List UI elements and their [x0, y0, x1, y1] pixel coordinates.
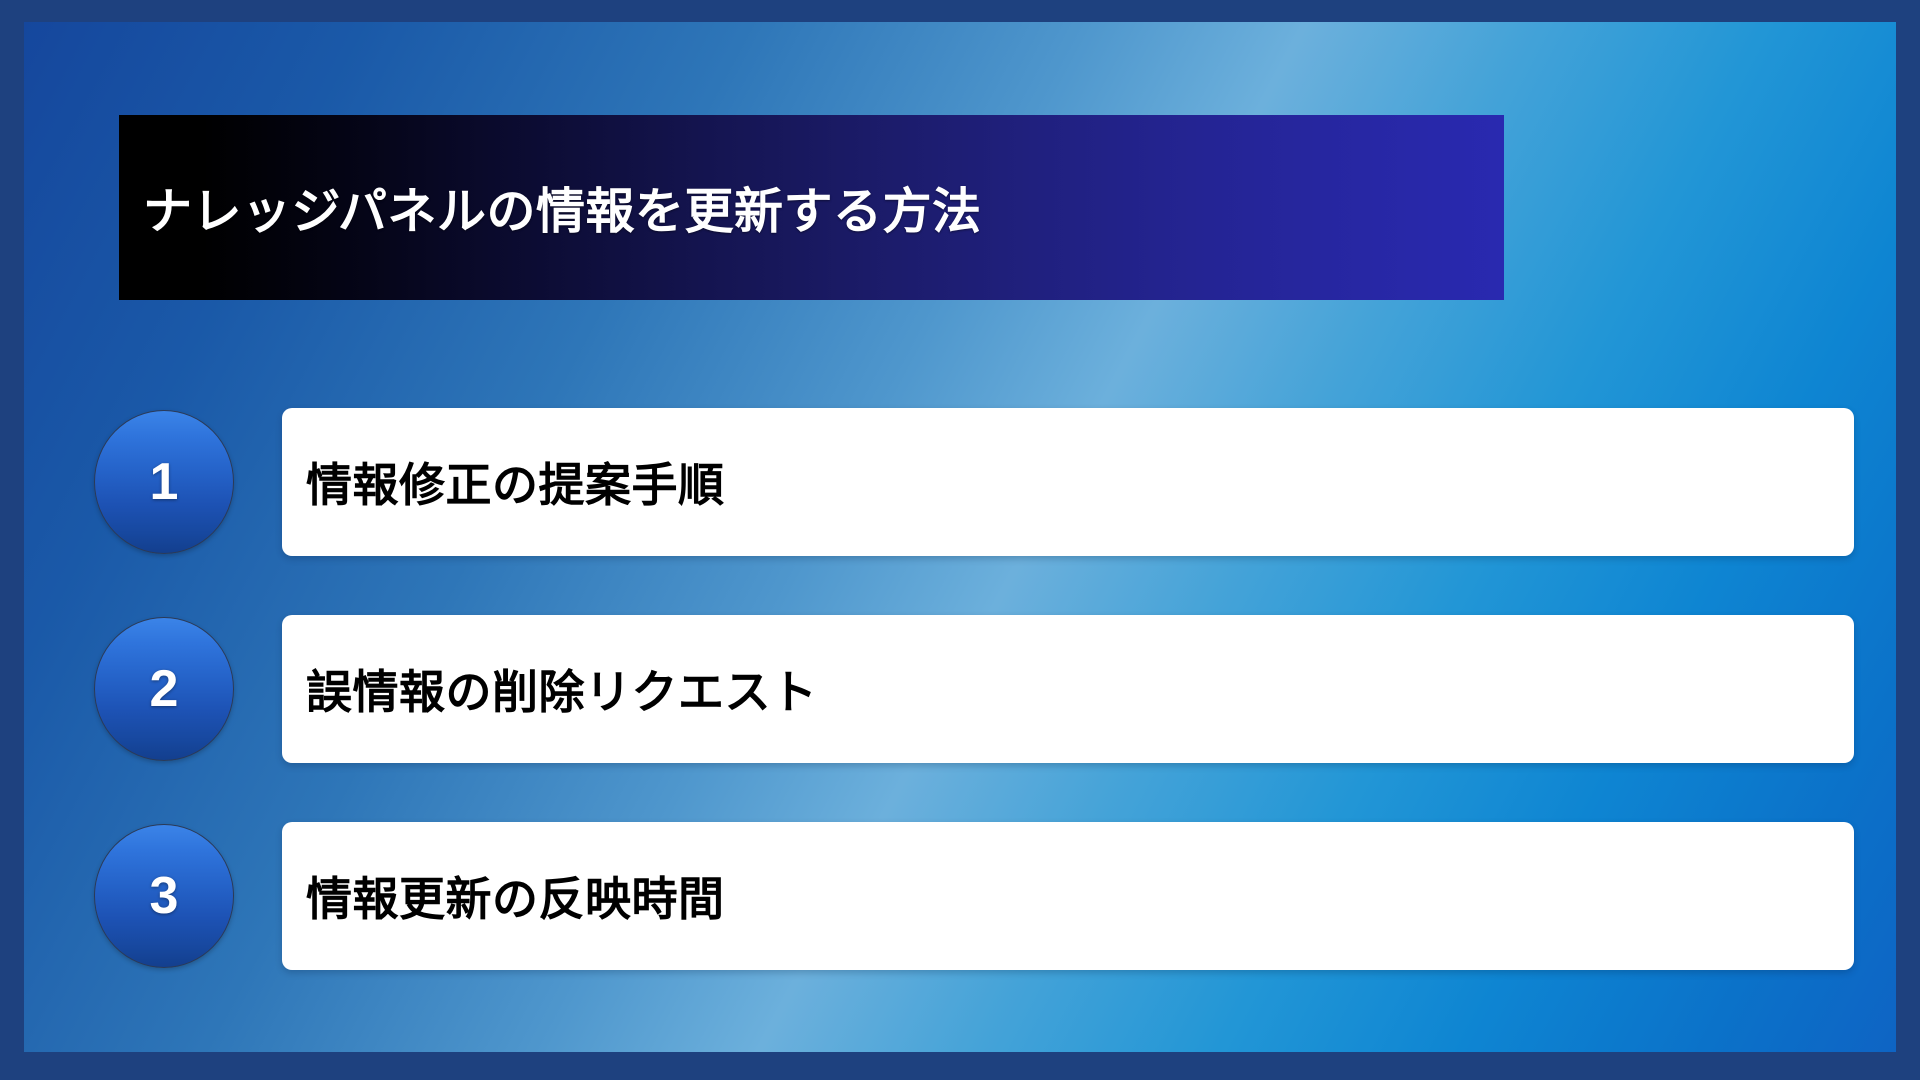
step-card-label: 誤情報の削除リクエスト	[282, 656, 818, 722]
slide-title-bar: ナレッジパネルの情報を更新する方法	[119, 115, 1504, 300]
list-item[interactable]: 3 情報更新の反映時間	[94, 811, 1854, 981]
step-card-label: 情報修正の提案手順	[282, 449, 725, 515]
step-number-label: 3	[150, 870, 179, 922]
step-card-label: 情報更新の反映時間	[282, 863, 725, 929]
step-number-badge: 1	[94, 410, 234, 554]
slide-root: ナレッジパネルの情報を更新する方法 1 情報修正の提案手順 2 誤情報の削除リク…	[0, 0, 1920, 1080]
step-number-label: 1	[150, 456, 179, 508]
step-number-badge: 3	[94, 824, 234, 968]
step-number-label: 2	[150, 663, 179, 715]
step-card[interactable]: 情報修正の提案手順	[282, 408, 1854, 556]
list-item[interactable]: 1 情報修正の提案手順	[94, 397, 1854, 567]
step-card[interactable]: 誤情報の削除リクエスト	[282, 615, 1854, 763]
list-item[interactable]: 2 誤情報の削除リクエスト	[94, 604, 1854, 774]
step-number-badge: 2	[94, 617, 234, 761]
step-card[interactable]: 情報更新の反映時間	[282, 822, 1854, 970]
slide-panel: ナレッジパネルの情報を更新する方法 1 情報修正の提案手順 2 誤情報の削除リク…	[24, 22, 1896, 1052]
page-title: ナレッジパネルの情報を更新する方法	[119, 172, 982, 243]
